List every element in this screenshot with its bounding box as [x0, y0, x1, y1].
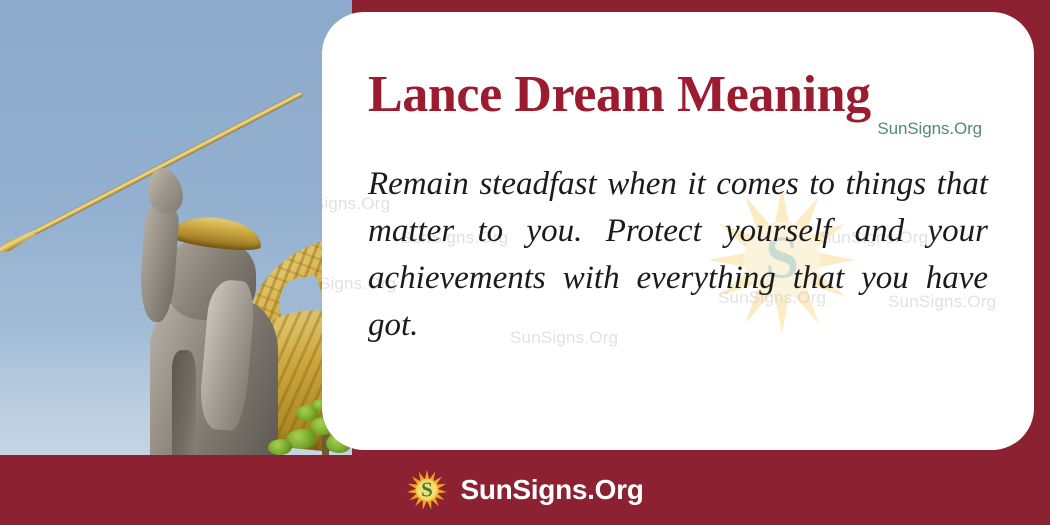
- angel-statue-icon: [120, 160, 310, 455]
- content-card: S SunSigns.Org SunSigns.Org SunSigns.Org…: [322, 12, 1034, 450]
- svg-text:S: S: [422, 477, 434, 501]
- sun-logo-icon: S: [406, 469, 448, 511]
- banner-canvas: S SunSigns.Org SunSigns.Org SunSigns.Org…: [0, 0, 1050, 525]
- subtitle-row: SunSigns.Org: [368, 119, 988, 141]
- page-title: Lance Dream Meaning: [368, 68, 988, 121]
- brand-subtitle: SunSigns.Org: [877, 119, 982, 139]
- footer-brand: SunSigns.Org: [460, 474, 643, 506]
- body-paragraph: Remain steadfast when it comes to things…: [368, 161, 988, 348]
- leaf: [268, 439, 292, 455]
- statue-fold: [172, 350, 196, 455]
- card-content: Lance Dream Meaning SunSigns.Org Remain …: [322, 12, 1034, 348]
- hero-photo: [0, 0, 352, 455]
- footer-bar: S SunSigns.Org: [0, 455, 1050, 525]
